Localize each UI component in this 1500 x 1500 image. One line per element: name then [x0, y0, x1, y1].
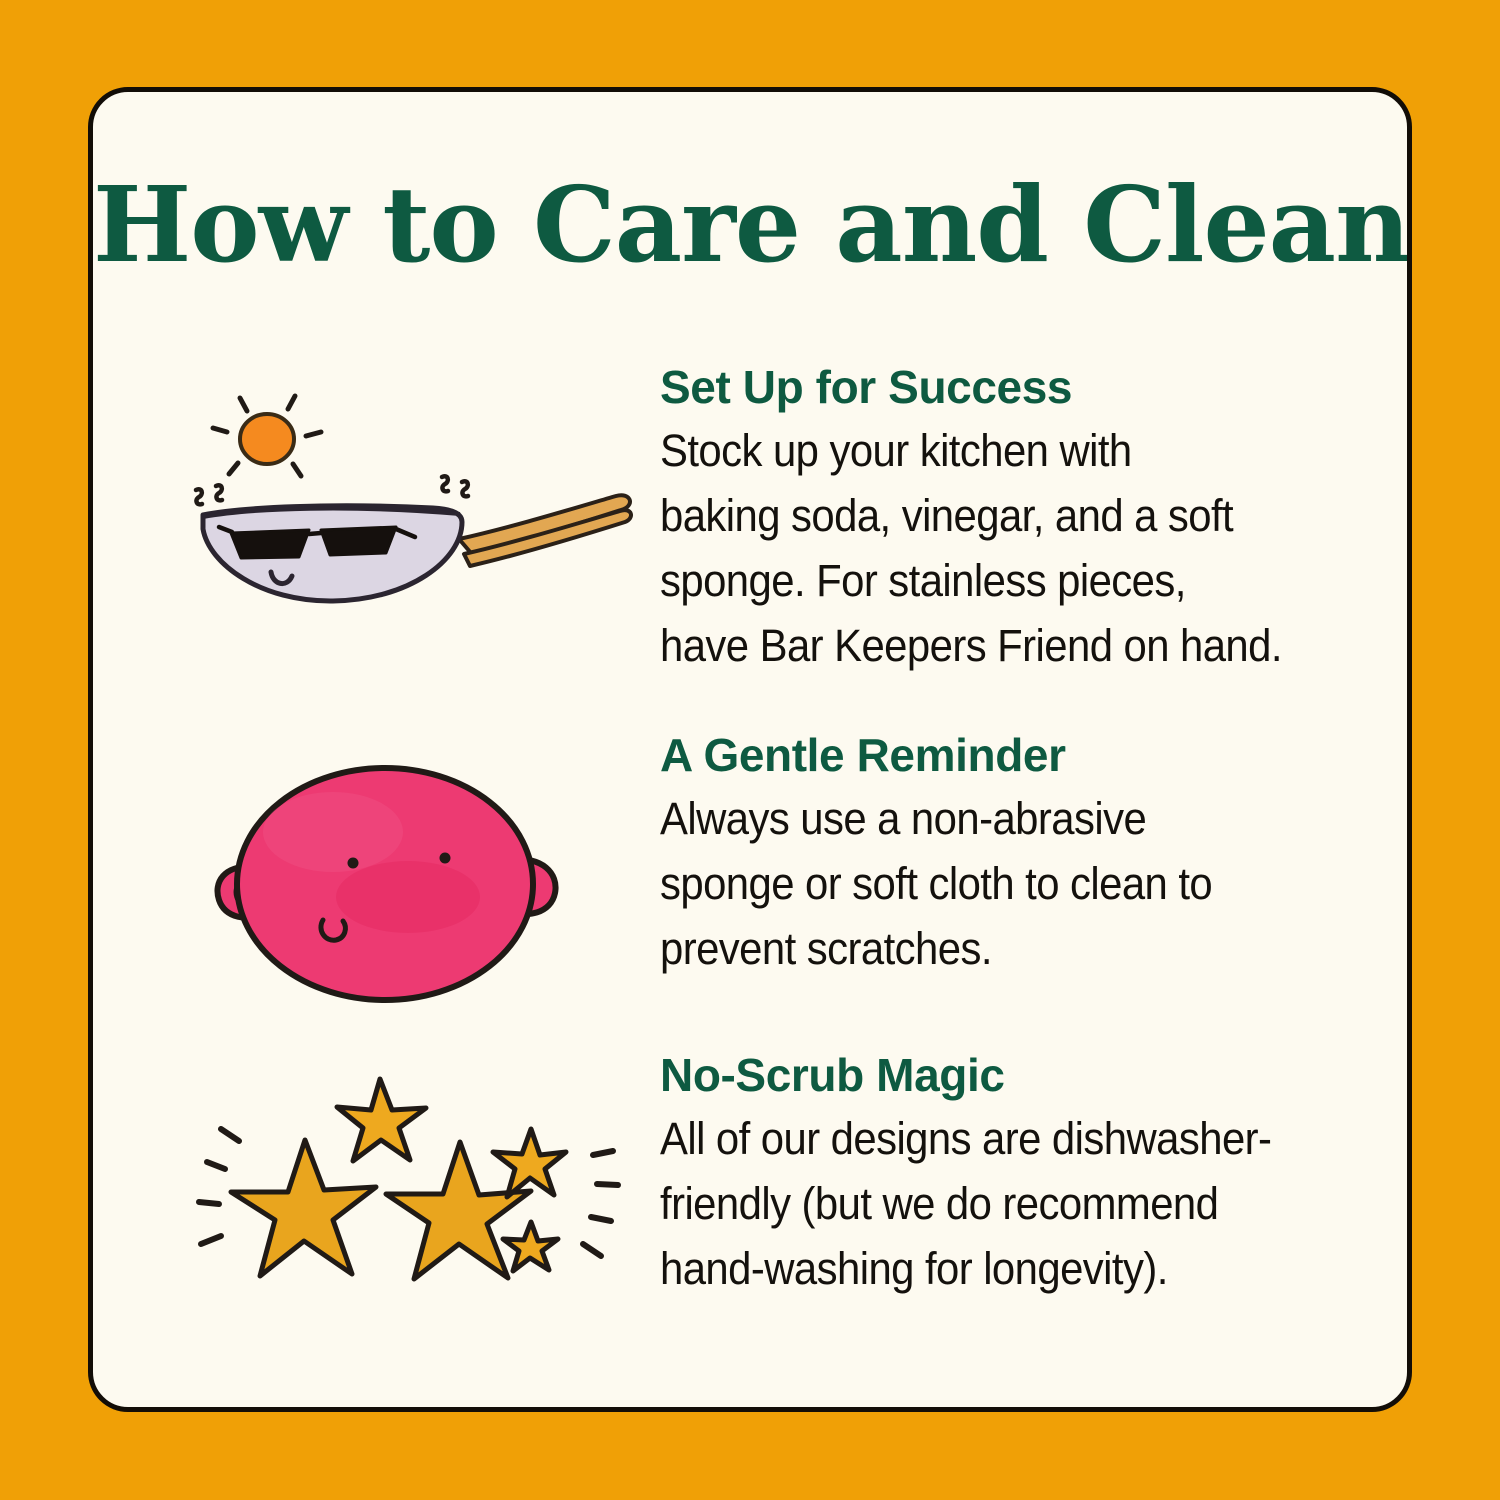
body-line: baking soda, vinegar, and a soft — [660, 483, 1311, 548]
body-line: friendly (but we do recommend — [660, 1171, 1311, 1236]
section-copy: Set Up for Success Stock up your kitchen… — [660, 364, 1360, 678]
poster-canvas: How to Care and Clean — [0, 0, 1500, 1500]
page-title: How to Care and Clean — [93, 170, 1407, 279]
body-line: All of our designs are dishwasher- — [660, 1106, 1311, 1171]
content-card: How to Care and Clean — [88, 87, 1412, 1412]
body-line: hand-washing for longevity). — [660, 1236, 1311, 1301]
page-title-text: How to Care and Clean — [93, 163, 1410, 286]
body-line: prevent scratches. — [660, 916, 1311, 981]
body-line: Stock up your kitchen with — [660, 418, 1311, 483]
body-line: sponge or soft cloth to clean to — [660, 851, 1311, 916]
pink-dutch-oven-with-face-icon — [183, 732, 653, 1032]
section-heading: A Gentle Reminder — [660, 732, 1360, 778]
section-body: Always use a non-abrasive sponge or soft… — [660, 786, 1311, 981]
sparkling-stars-icon — [183, 1052, 653, 1352]
section-body: All of our designs are dishwasher- frien… — [660, 1106, 1311, 1301]
section-copy: No-Scrub Magic All of our designs are di… — [660, 1052, 1360, 1301]
body-line: Always use a non-abrasive — [660, 786, 1311, 851]
body-line: have Bar Keepers Friend on hand. — [660, 613, 1311, 678]
section-body: Stock up your kitchen with baking soda, … — [660, 418, 1311, 678]
body-line: sponge. For stainless pieces, — [660, 548, 1311, 613]
section-copy: A Gentle Reminder Always use a non-abras… — [660, 732, 1360, 981]
section-heading: No-Scrub Magic — [660, 1052, 1360, 1098]
section-heading: Set Up for Success — [660, 364, 1360, 410]
frying-pan-with-sunglasses-and-sun-icon — [183, 364, 653, 664]
